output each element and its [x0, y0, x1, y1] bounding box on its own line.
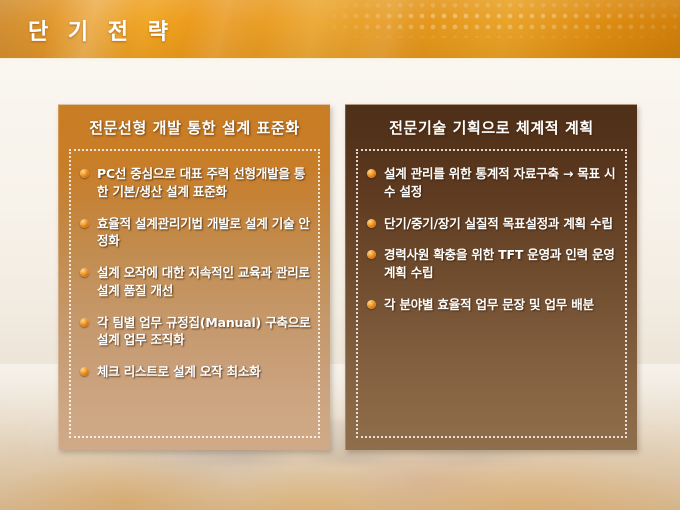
- list-item-label: PC선 중심으로 대표 주력 선형개발을 통한 기본/생산 설계 표준화: [97, 165, 312, 201]
- bullet-sphere-icon: [80, 268, 89, 277]
- page-title: 단 기 전 략: [28, 14, 174, 46]
- card-right-body: 설계 관리를 위한 통계적 자료구축 → 목표 시수 설정 단기/중기/장기 실…: [356, 149, 627, 438]
- list-item-label: 각 분야별 효율적 업무 문장 및 업무 배분: [384, 296, 619, 314]
- slide-canvas: 단 기 전 략 전문선형 개발 통한 설계 표준화 PC선 중심으로 대표 주력…: [0, 0, 680, 510]
- bullet-sphere-icon: [367, 250, 376, 259]
- card-left-title: 전문선형 개발 통한 설계 표준화: [59, 117, 330, 138]
- list-item: 설계 관리를 위한 통계적 자료구축 → 목표 시수 설정: [366, 165, 619, 201]
- list-item-label: 경력사원 확충을 위한 TFT 운영과 인력 운영 계획 수립: [384, 246, 619, 282]
- bullet-sphere-icon: [367, 169, 376, 178]
- bullet-sphere-icon: [367, 300, 376, 309]
- list-item: 체크 리스트로 설계 오작 최소화: [79, 363, 312, 381]
- list-item: 효율적 설계관리기법 개발로 설계 기술 안정화: [79, 215, 312, 251]
- list-item: PC선 중심으로 대표 주력 선형개발을 통한 기본/생산 설계 표준화: [79, 165, 312, 201]
- card-left-body: PC선 중심으로 대표 주력 선형개발을 통한 기본/생산 설계 표준화 효율적…: [69, 149, 320, 438]
- dot-grid-icon: [320, 2, 680, 38]
- list-item-label: 설계 오작에 대한 지속적인 교육과 관리로 설계 품질 개선: [97, 264, 312, 300]
- list-item-label: 단기/중기/장기 실질적 목표설정과 계획 수립: [384, 215, 619, 233]
- list-item: 단기/중기/장기 실질적 목표설정과 계획 수립: [366, 215, 619, 233]
- bullet-sphere-icon: [367, 219, 376, 228]
- list-item: 경력사원 확충을 위한 TFT 운영과 인력 운영 계획 수립: [366, 246, 619, 282]
- list-item-label: 각 팀별 업무 규정집(Manual) 구축으로 설계 업무 조직화: [97, 314, 312, 350]
- list-item-label: 체크 리스트로 설계 오작 최소화: [97, 363, 312, 381]
- card-right: 전문기술 기획으로 체계적 계획 설계 관리를 위한 통계적 자료구축 → 목표…: [345, 104, 637, 450]
- header-banner: 단 기 전 략: [0, 0, 680, 58]
- card-left: 전문선형 개발 통한 설계 표준화 PC선 중심으로 대표 주력 선형개발을 통…: [58, 104, 330, 450]
- list-item: 각 팀별 업무 규정집(Manual) 구축으로 설계 업무 조직화: [79, 314, 312, 350]
- bullet-sphere-icon: [80, 318, 89, 327]
- list-item: 설계 오작에 대한 지속적인 교육과 관리로 설계 품질 개선: [79, 264, 312, 300]
- list-item: 각 분야별 효율적 업무 문장 및 업무 배분: [366, 296, 619, 314]
- card-right-bullet-list: 설계 관리를 위한 통계적 자료구축 → 목표 시수 설정 단기/중기/장기 실…: [366, 165, 619, 314]
- card-left-bullet-list: PC선 중심으로 대표 주력 선형개발을 통한 기본/생산 설계 표준화 효율적…: [79, 165, 312, 381]
- bullet-sphere-icon: [80, 219, 89, 228]
- bullet-sphere-icon: [80, 367, 89, 376]
- bullet-sphere-icon: [80, 169, 89, 178]
- card-right-title: 전문기술 기획으로 체계적 계획: [346, 117, 637, 138]
- header-underline: [0, 58, 680, 61]
- list-item-label: 효율적 설계관리기법 개발로 설계 기술 안정화: [97, 215, 312, 251]
- list-item-label: 설계 관리를 위한 통계적 자료구축 → 목표 시수 설정: [384, 165, 619, 201]
